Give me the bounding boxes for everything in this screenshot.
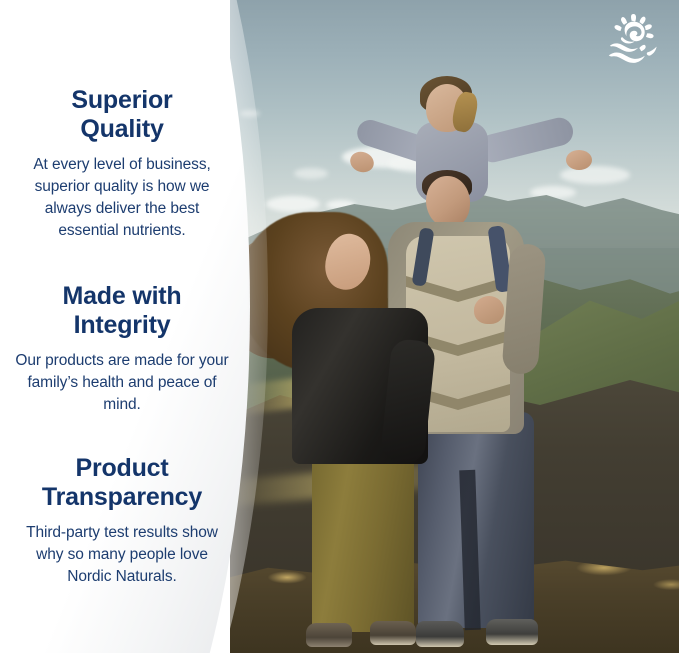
heading-line-2: Quality xyxy=(80,115,163,143)
child-left-hand xyxy=(347,148,376,175)
heading-line-1: Made with xyxy=(62,282,181,310)
man-shoe xyxy=(486,619,538,645)
value-prop-body: Third-party test results show why so man… xyxy=(14,522,230,588)
value-prop-heading: SuperiorQuality xyxy=(14,86,230,144)
value-prop-made-with-integrity: Made withIntegrity Our products are made… xyxy=(14,282,230,416)
heading-line-2: Integrity xyxy=(74,311,171,339)
sun-and-waves-logo-icon xyxy=(609,14,657,63)
value-prop-product-transparency: ProductTransparency Third-party test res… xyxy=(14,454,230,588)
woman-pants xyxy=(312,446,414,632)
heading-line-2: Transparency xyxy=(42,483,202,511)
child-right-hand xyxy=(566,150,592,170)
man-shoe xyxy=(416,621,464,647)
value-prop-heading: Made withIntegrity xyxy=(14,282,230,340)
child-right-arm xyxy=(476,115,576,165)
value-prop-heading: ProductTransparency xyxy=(14,454,230,512)
nordic-naturals-logo xyxy=(603,12,665,66)
heading-line-1: Product xyxy=(75,454,168,482)
woman-shoe xyxy=(306,623,352,647)
woman-shoe xyxy=(370,621,416,645)
lifestyle-photo xyxy=(230,0,679,653)
man-right-arm xyxy=(502,243,547,375)
family-group xyxy=(230,0,679,653)
value-prop-body: Our products are made for your family’s … xyxy=(14,350,230,416)
value-prop-superior-quality: SuperiorQuality At every level of busine… xyxy=(14,86,230,242)
value-prop-body: At every level of business, superior qua… xyxy=(14,154,230,242)
heading-line-1: Superior xyxy=(71,86,172,114)
man-head xyxy=(426,176,470,228)
man-hand xyxy=(474,296,504,324)
promo-banner: SuperiorQuality At every level of busine… xyxy=(0,0,679,653)
value-props-list: SuperiorQuality At every level of busine… xyxy=(0,0,246,653)
